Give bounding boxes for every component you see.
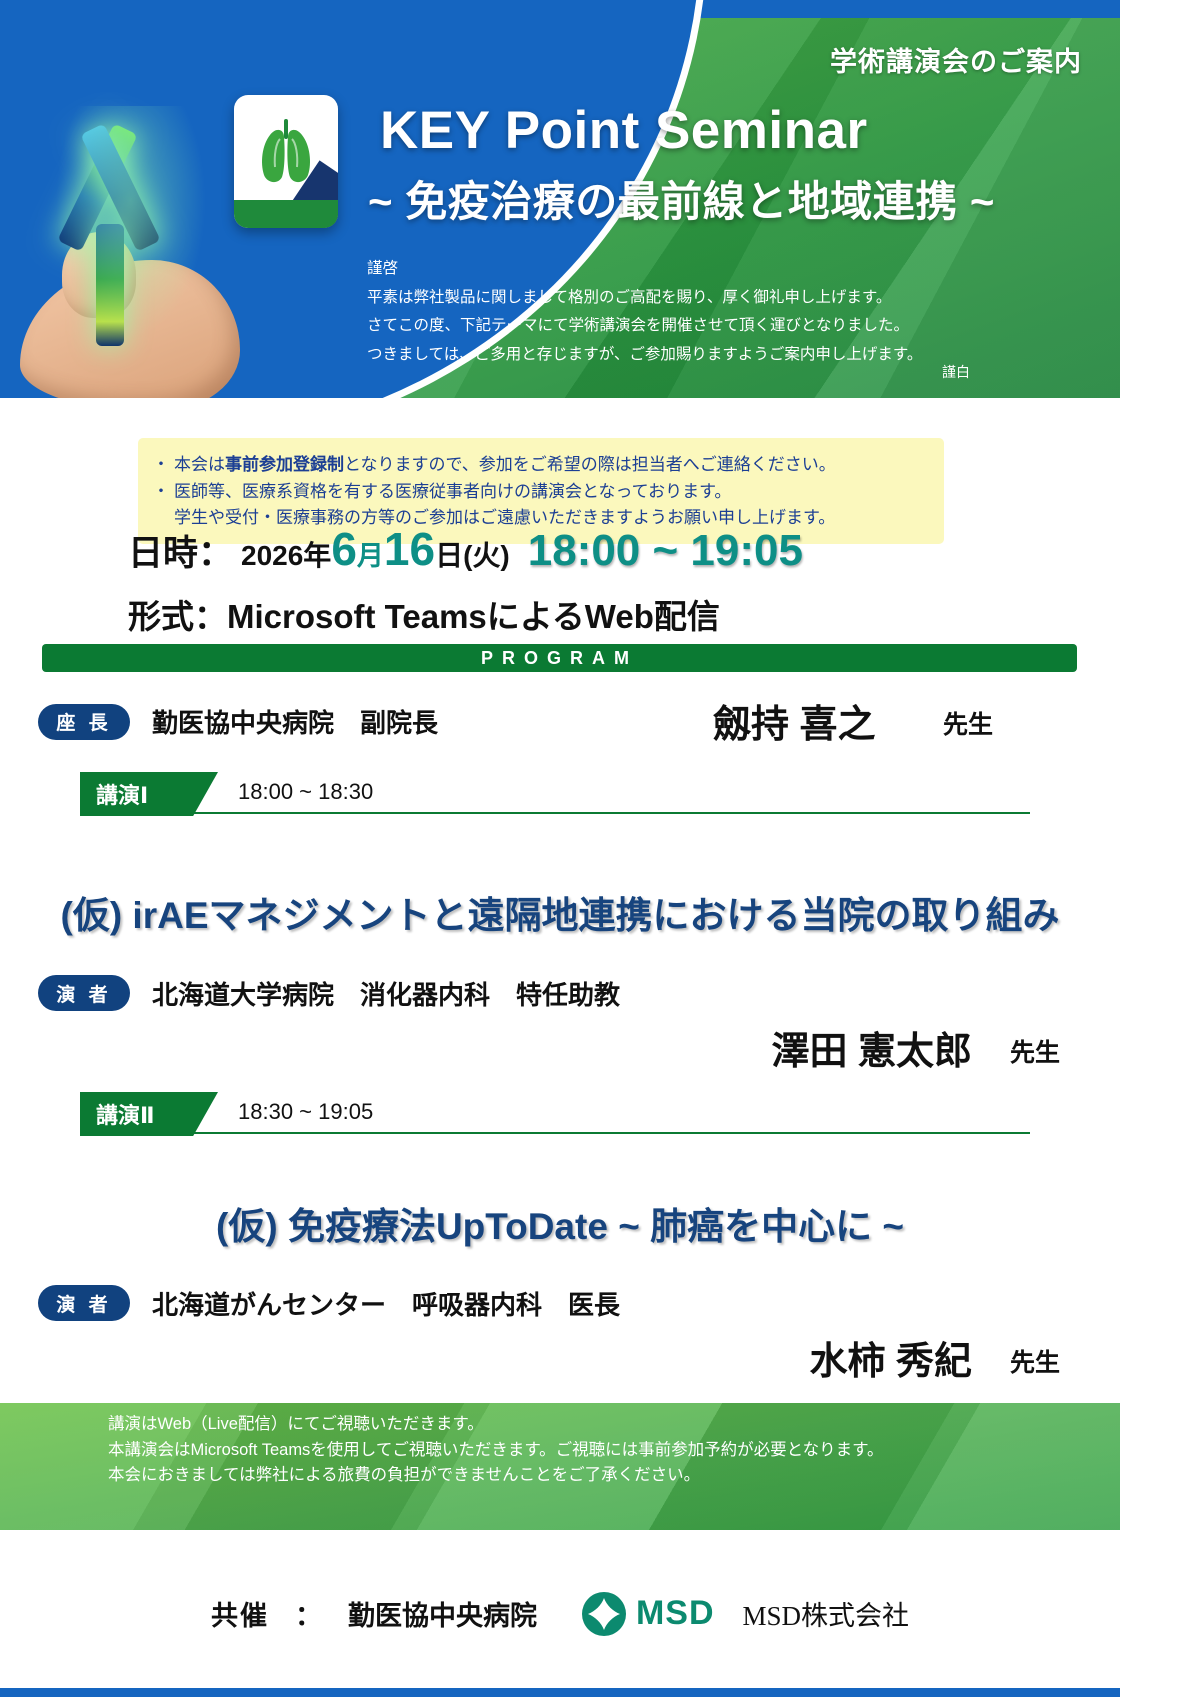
chairperson-name: 劔持 喜之 <box>713 693 876 748</box>
speaker-1-honorific: 先生 <box>1010 1033 1060 1069</box>
y-antibody-icon <box>40 106 220 356</box>
notice-2-line-1: 医師等、医療系資格を有する医療従事者向けの講演会となっております。 <box>174 482 731 501</box>
sponsor-company-name: MSD株式会社 <box>743 1594 910 1633</box>
event-month-number: 6 <box>331 522 357 576</box>
lecture-1-title: (仮) irAEマネジメントと遠隔地連携における当院の取り組み <box>0 885 1120 939</box>
chairperson-affiliation: 勤医協中央病院 副院長 <box>152 703 438 740</box>
hand-antibody-illustration <box>10 100 260 398</box>
greeting-close: 謹白 <box>942 362 970 382</box>
speaker-1-role-badge: 演 者 <box>38 975 130 1011</box>
notice-item-1-text: 本会は事前参加登録制となりますので、参加をご希望の際は担当者へご連絡ください。 <box>174 452 836 478</box>
lecture-2-speaker-row: 演 者 北海道がんセンター 呼吸器内科 医長 水柿 秀紀 先生 <box>38 1285 1082 1322</box>
msd-logo: MSD <box>581 1591 715 1637</box>
lungs-logo-tile <box>234 95 338 228</box>
greeting-line-1: 平素は弊社製品に関しまして格別のご高配を賜り、厚く御礼申し上げます。 <box>367 284 987 313</box>
poster-header: 学術講演会のご案内 KEY Point Seminar ~ 免疫治療の最前線と地… <box>0 0 1120 398</box>
notice-item-1: ・ 本会は事前参加登録制となりますので、参加をご希望の際は担当者へご連絡ください… <box>148 452 930 478</box>
speaker-1-affiliation: 北海道大学病院 消化器内科 特任助教 <box>152 975 620 1012</box>
header-notice-label: 学術講演会のご案内 <box>830 40 1082 79</box>
footer-blue-strip <box>0 1688 1120 1697</box>
event-day-unit: 日(火) <box>435 534 510 574</box>
greeting-line-3: つきましては、ご多用と存じますが、ご参加賜りますようご案内申し上げます。 <box>367 341 987 370</box>
event-time-range: 18:00 ~ 19:05 <box>528 526 803 576</box>
event-datetime: 日時： 2026年 6 月 16 日(火) 18:00 ~ 19:05 <box>128 522 803 576</box>
cohost-label: 共催 <box>211 1594 269 1633</box>
event-month-unit: 月 <box>357 534 384 573</box>
lecture-1-tab-label: 講演Ⅰ <box>80 772 218 816</box>
speaker-2-affiliation: 北海道がんセンター 呼吸器内科 医長 <box>152 1285 620 1322</box>
bullet-icon: ・ <box>148 452 174 478</box>
lecture-2-tab-label: 講演Ⅱ <box>80 1092 218 1136</box>
msd-wordmark: MSD <box>636 1594 715 1633</box>
footer-note-2: 本講演会はMicrosoft Teamsを使用してご視聴いただきます。ご視聴には… <box>108 1438 1038 1464</box>
seminar-title: KEY Point Seminar <box>380 100 868 161</box>
chairperson-role-badge: 座 長 <box>38 704 130 740</box>
lecture-2-title: (仮) 免疫療法UpToDate ~ 肺癌を中心に ~ <box>0 1196 1120 1250</box>
cohost-bar: 共催 ： 勤医協中央病院 MSD MSD株式会社 <box>0 1530 1120 1697</box>
lecture-1-rule <box>80 812 1030 814</box>
footer-note-1: 講演はWeb（Live配信）にてご視聴いただきます。 <box>108 1412 1038 1438</box>
greeting-line-2: さてこの度、下記テーマにて学術講演会を開催させて頂く運びとなりました。 <box>367 312 987 341</box>
speaker-2-name: 水柿 秀紀 <box>809 1330 972 1385</box>
cohost-colon: ： <box>295 1594 322 1633</box>
greeting-block: 謹啓 平素は弊社製品に関しまして格別のご高配を賜り、厚く御礼申し上げます。 さて… <box>367 255 987 370</box>
event-year: 2026年 <box>241 534 331 574</box>
lecture-1-header: 講演Ⅰ 18:00 ~ 18:30 <box>80 772 1030 816</box>
msd-mark-icon <box>581 1591 627 1637</box>
speaker-1-name: 澤田 憲太郎 <box>771 1020 972 1075</box>
greeting-open: 謹啓 <box>367 255 987 284</box>
footer-notes: 講演はWeb（Live配信）にてご視聴いただきます。 本講演会はMicrosof… <box>108 1412 1038 1489</box>
footer-note-3: 本会におきましては弊社による旅費の負担ができませんことをご了承ください。 <box>108 1463 1038 1489</box>
event-day-number: 16 <box>384 522 435 576</box>
lecture-1-speaker-row: 演 者 北海道大学病院 消化器内科 特任助教 澤田 憲太郎 先生 <box>38 975 1082 1012</box>
event-format: 形式：Microsoft TeamsによるWeb配信 <box>128 590 720 638</box>
program-banner: PROGRAM <box>42 644 1077 672</box>
speaker-2-honorific: 先生 <box>1010 1343 1060 1379</box>
lecture-1-time: 18:00 ~ 18:30 <box>238 779 373 805</box>
chairperson-honorific: 先生 <box>943 705 993 741</box>
chairperson-row: 座 長 勤医協中央病院 副院長 劔持 喜之 先生 <box>38 703 1078 740</box>
bullet-icon: ・ <box>148 479 174 505</box>
seminar-subtitle: ~ 免疫治療の最前線と地域連携 ~ <box>368 168 995 229</box>
notice-1-post: となりますので、参加をご希望の際は担当者へご連絡ください。 <box>344 455 836 474</box>
datetime-label: 日時： <box>128 525 233 576</box>
speaker-2-role-badge: 演 者 <box>38 1285 130 1321</box>
cohost-hospital: 勤医協中央病院 <box>348 1594 537 1633</box>
notice-1-strong: 事前参加登録制 <box>225 455 344 474</box>
lecture-2-time: 18:30 ~ 19:05 <box>238 1099 373 1125</box>
lecture-2-rule <box>80 1132 1030 1134</box>
lecture-2-header: 講演Ⅱ 18:30 ~ 19:05 <box>80 1092 1030 1136</box>
notice-1-pre: 本会は <box>174 455 225 474</box>
